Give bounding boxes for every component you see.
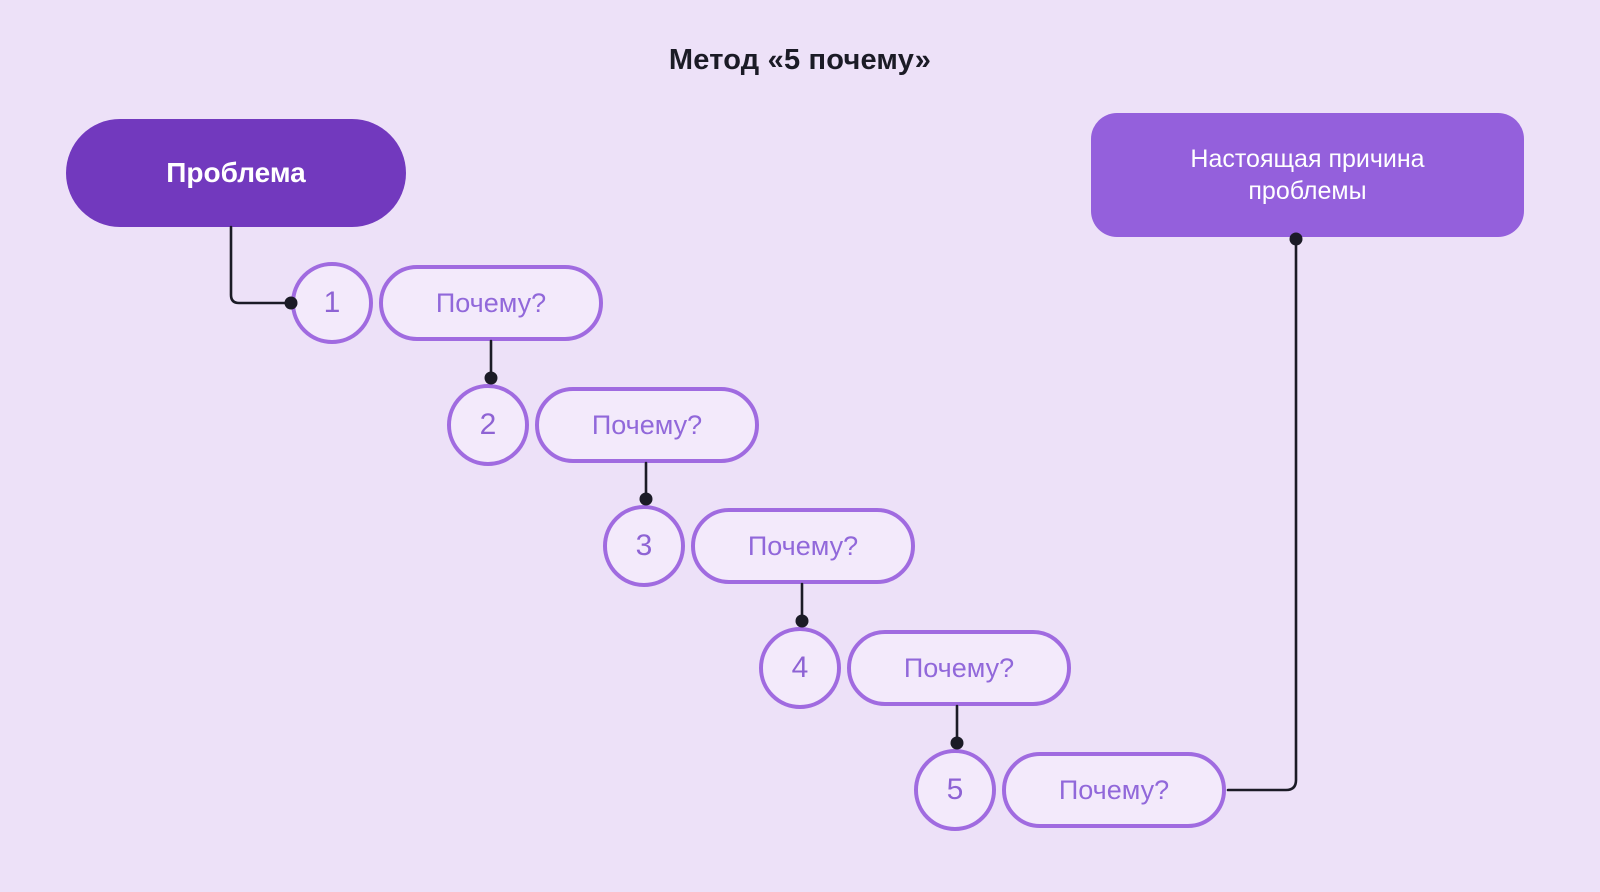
step-question-pill-5[interactable]: Почему? (1002, 752, 1226, 828)
step-node-5: Почему? 5 (914, 749, 1234, 831)
joint-step3 (640, 493, 653, 506)
problem-box[interactable]: Проблема (66, 119, 406, 227)
page-title: Метод «5 почему» (0, 44, 1600, 77)
step-node-3: Почему? 3 (603, 505, 923, 587)
five-whys-diagram: Метод «5 почему» Проблема Настоящая прич… (0, 0, 1600, 892)
step-node-1: Почему? 1 (291, 262, 611, 344)
step-number-label-5: 5 (947, 773, 964, 807)
step-question-label-1: Почему? (436, 288, 546, 319)
connector-step5-to-cause (1228, 243, 1296, 790)
step-number-label-1: 1 (324, 286, 341, 320)
step-number-circle-1[interactable]: 1 (291, 262, 373, 344)
step-number-circle-5[interactable]: 5 (914, 749, 996, 831)
step-number-label-3: 3 (636, 529, 653, 563)
step-question-pill-2[interactable]: Почему? (535, 387, 759, 463)
problem-box-label: Проблема (166, 155, 305, 191)
step-question-pill-1[interactable]: Почему? (379, 265, 603, 341)
step-question-label-2: Почему? (592, 410, 702, 441)
step-node-4: Почему? 4 (759, 627, 1079, 709)
step-node-2: Почему? 2 (447, 384, 767, 466)
step-question-label-3: Почему? (748, 531, 858, 562)
connector-problem-to-step1 (231, 227, 289, 303)
joint-step2 (485, 372, 498, 385)
step-question-pill-3[interactable]: Почему? (691, 508, 915, 584)
step-question-pill-4[interactable]: Почему? (847, 630, 1071, 706)
joint-step5 (951, 737, 964, 750)
step-number-circle-4[interactable]: 4 (759, 627, 841, 709)
step-number-circle-2[interactable]: 2 (447, 384, 529, 466)
step-number-label-4: 4 (792, 651, 809, 685)
step-question-label-5: Почему? (1059, 775, 1169, 806)
real-cause-box[interactable]: Настоящая причина проблемы (1091, 113, 1524, 237)
step-number-circle-3[interactable]: 3 (603, 505, 685, 587)
step-question-label-4: Почему? (904, 653, 1014, 684)
step-number-label-2: 2 (480, 408, 497, 442)
joint-step4 (796, 615, 809, 628)
real-cause-box-label: Настоящая причина проблемы (1143, 143, 1473, 207)
